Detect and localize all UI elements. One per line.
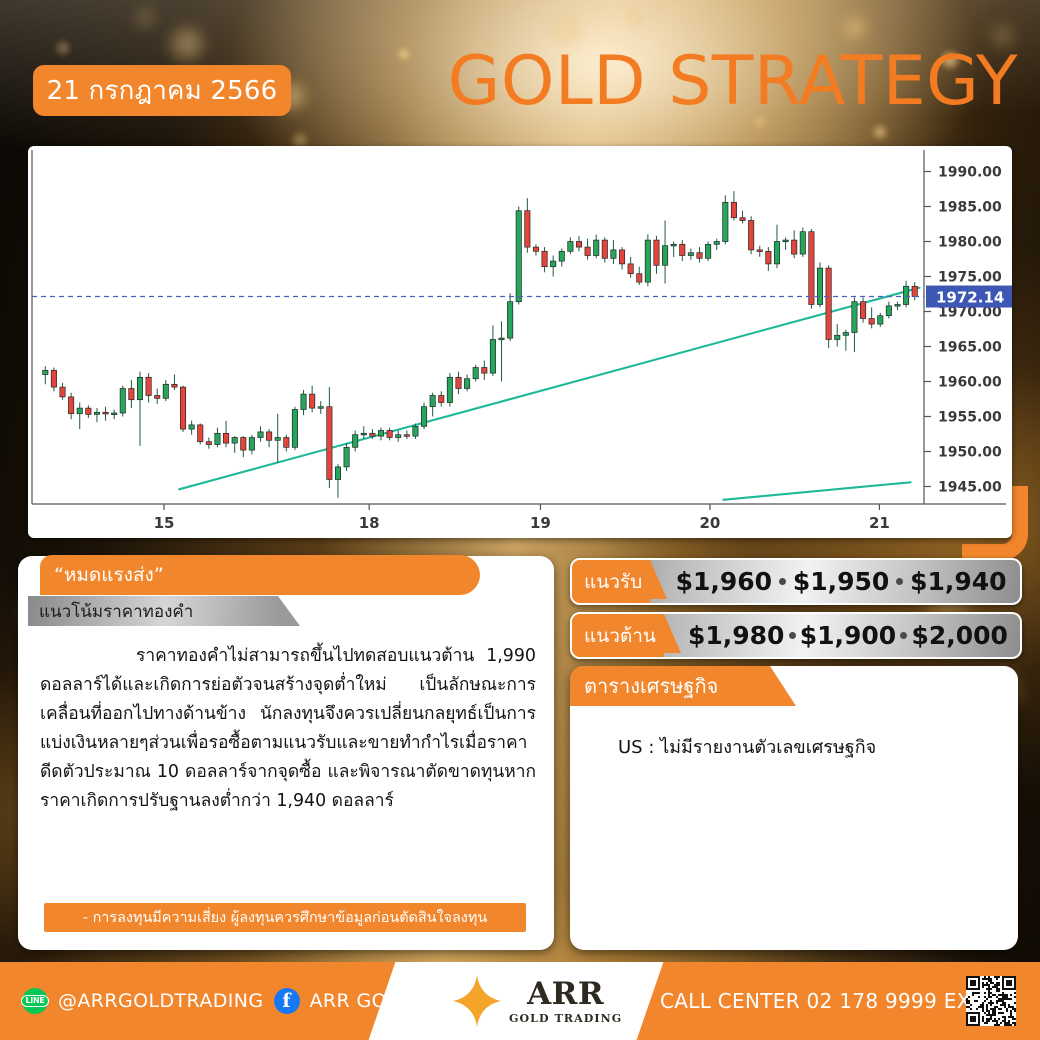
svg-text:1965.00: 1965.00 [938,340,1002,356]
candlestick-chart-svg: 1945.001950.001955.001960.001965.001970.… [28,146,1012,538]
svg-text:19: 19 [530,514,551,532]
support-label-tab: แนวรับ [572,560,650,603]
commentary-quote: “หมดแรงส่ง” [40,560,164,590]
support-separator-dot-icon [896,578,903,585]
support-separator-dot-icon [779,578,786,585]
candlestick-chart: 1945.001950.001955.001960.001965.001970.… [28,146,1012,538]
support-levels-pill: แนวรับ $1,960 $1,950 $1,940 [570,558,1022,605]
line-id-text[interactable]: @ARRGOLDTRADING [58,990,264,1012]
poster-root: 21 กรกฎาคม 2566 GOLD STRATEGY 1945.00195… [0,0,1040,1040]
commentary-subheader: แนวโน้มราคาทองคำ [28,596,278,626]
commentary-quote-band: “หมดแรงส่ง” [40,555,480,595]
svg-text:15: 15 [154,514,175,532]
resistance-separator-dot-icon [900,632,907,639]
date-badge-text: 21 กรกฎาคม 2566 [47,70,278,111]
risk-disclaimer-text: - การลงทุนมีความเสี่ยง ผู้ลงทุนควรศึกษาข… [83,906,487,929]
brand-tagline: GOLD TRADING [509,1013,622,1024]
price-chart-panel: 1945.001950.001955.001960.001965.001970.… [28,146,1012,538]
support-values: $1,960 $1,950 $1,940 [650,567,1020,596]
support-label: แนวรับ [584,567,642,597]
brand-name: ARR [527,979,604,1010]
call-center-text: CALL CENTER 02 178 9999 EXT 9 [660,962,1003,1040]
svg-text:1945.00: 1945.00 [938,480,1002,496]
facebook-icon[interactable]: f [274,988,300,1014]
commentary-subheader-label: แนวโน้มราคาทองคำ [28,598,193,625]
resistance-label-tab: แนวต้าน [572,614,664,657]
svg-text:1990.00: 1990.00 [938,165,1002,181]
footer-bar: LINE @ARRGOLDTRADING f ARR GOLD TRADING … [0,962,1040,1040]
svg-text:1950.00: 1950.00 [938,445,1002,461]
resistance-separator-dot-icon [789,632,796,639]
support-value-3: $1,940 [910,567,1006,596]
date-badge: 21 กรกฎาคม 2566 [33,65,291,116]
resistance-label: แนวต้าน [584,621,656,651]
footer-social: LINE @ARRGOLDTRADING f ARR GOLD TRADING [22,962,508,1040]
support-value-2: $1,950 [793,567,889,596]
resistance-value-1: $1,980 [688,621,784,650]
commentary-body: ราคาทองคำไม่สามารถขึ้นไปทดสอบแนวต้าน 1,9… [40,642,536,816]
svg-text:1975.00: 1975.00 [938,270,1002,286]
diamond-star-icon [452,974,502,1028]
svg-text:21: 21 [869,514,890,532]
svg-text:1955.00: 1955.00 [938,410,1002,426]
commentary-card: “หมดแรงส่ง” แนวโน้มราคาทองคำ ราคาทองคำไม… [18,556,554,950]
economic-calendar-header: ตารางเศรษฐกิจ [570,666,770,706]
resistance-value-3: $2,000 [911,621,1007,650]
economic-calendar-title: ตารางเศรษฐกิจ [570,670,718,702]
risk-disclaimer: - การลงทุนมีความเสี่ยง ผู้ลงทุนควรศึกษาข… [44,903,526,932]
svg-text:1980.00: 1980.00 [938,235,1002,251]
resistance-values: $1,980 $1,900 $2,000 [664,621,1020,650]
line-icon[interactable]: LINE [22,988,48,1014]
svg-text:1960.00: 1960.00 [938,375,1002,391]
resistance-levels-pill: แนวต้าน $1,980 $1,900 $2,000 [570,612,1022,659]
svg-text:1985.00: 1985.00 [938,200,1002,216]
svg-text:1972.14: 1972.14 [936,289,1004,307]
page-title: GOLD STRATEGY [448,48,1018,116]
brand-logo: ARR GOLD TRADING [452,974,622,1028]
economic-calendar-card: ตารางเศรษฐกิจ US : ไม่มีรายงานตัวเลขเศรษ… [570,666,1018,950]
support-value-1: $1,960 [676,567,772,596]
resistance-value-2: $1,900 [800,621,896,650]
svg-text:18: 18 [359,514,380,532]
svg-text:20: 20 [699,514,720,532]
economic-calendar-row: US : ไม่มีรายงานตัวเลขเศรษฐกิจ [618,732,876,761]
qr-code-icon[interactable] [966,976,1016,1026]
brand-logo-text: ARR GOLD TRADING [509,979,622,1024]
